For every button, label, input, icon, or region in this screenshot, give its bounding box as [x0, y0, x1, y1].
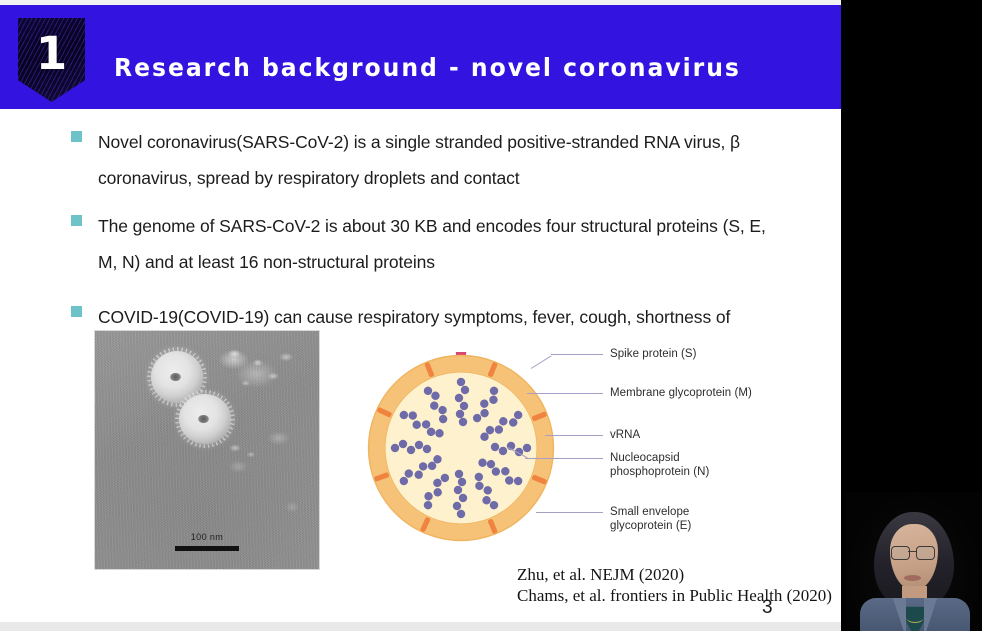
leader-line-membrane — [527, 393, 603, 394]
bullet-item: Novel coronavirus(SARS-CoV-2) is a singl… — [71, 124, 778, 196]
diagram-label-envelope-line1: Small envelope — [610, 505, 691, 519]
diagram-label-nucleocapsid-line2: phosphoprotein (N) — [610, 465, 709, 479]
citation-line-2: Chams, et al. frontiers in Public Health… — [517, 585, 832, 606]
virus-particle-core — [198, 415, 209, 423]
bullet-item: The genome of SARS-CoV-2 is about 30 KB … — [71, 208, 778, 280]
diagram-label-nucleocapsid-line1: Nucleocapsid — [610, 451, 709, 465]
slide-header-banner: 1 Research background - novel coronaviru… — [0, 5, 841, 109]
citation-block: Zhu, et al. NEJM (2020) Chams, et al. fr… — [517, 564, 832, 606]
presenter-video-thumbnail[interactable] — [846, 492, 982, 631]
diagram-label-small-envelope-glycoprotein: Small envelope glycoprotein (E) — [610, 505, 691, 533]
glasses-bridge-icon — [908, 551, 916, 552]
presentation-slide: 1 Research background - novel coronaviru… — [0, 0, 841, 622]
presenter-mouth — [904, 575, 921, 581]
diagram-label-membrane-glycoprotein: Membrane glycoprotein (M) — [610, 386, 752, 400]
bullet-text: Novel coronavirus(SARS-CoV-2) is a singl… — [98, 124, 778, 196]
bullet-text: The genome of SARS-CoV-2 is about 30 KB … — [98, 208, 778, 280]
citation-line-1: Zhu, et al. NEJM (2020) — [517, 564, 832, 585]
coronavirus-schematic-diagram — [348, 330, 574, 568]
diagram-label-spike-protein: Spike protein (S) — [610, 347, 697, 361]
glasses-lens-right-icon — [916, 546, 935, 560]
slide-bottom-band — [0, 622, 841, 631]
bullet-marker-icon — [71, 215, 82, 226]
slide-title: Research background - novel coronavirus — [114, 53, 741, 82]
coronavirus-schematic-svg — [348, 330, 574, 568]
leader-line-envelope — [536, 512, 603, 513]
electron-micrograph-image: 100 nm — [94, 330, 320, 570]
section-number-label: 1 — [18, 18, 85, 88]
micrograph-debris — [213, 341, 299, 405]
glasses-lens-left-icon — [891, 546, 910, 560]
section-number-badge: 1 — [18, 18, 85, 102]
leader-line-vrna — [545, 435, 603, 436]
diagram-label-nucleocapsid-phosphoprotein: Nucleocapsid phosphoprotein (N) — [610, 451, 709, 479]
leader-line-spike — [551, 354, 603, 355]
presenter-necklace — [906, 612, 924, 623]
scalebar-label: 100 nm — [95, 532, 319, 542]
slide-page-number: 3 — [762, 597, 773, 619]
micrograph-debris — [223, 436, 263, 466]
diagram-label-vrna: vRNA — [610, 428, 640, 442]
diagram-label-envelope-line2: glycoprotein (E) — [610, 519, 691, 533]
bullet-marker-icon — [71, 131, 82, 142]
leader-line-nucleocapsid — [525, 458, 603, 459]
scalebar-icon — [175, 546, 239, 551]
bullet-marker-icon — [71, 306, 82, 317]
virus-particle-core — [170, 373, 181, 381]
